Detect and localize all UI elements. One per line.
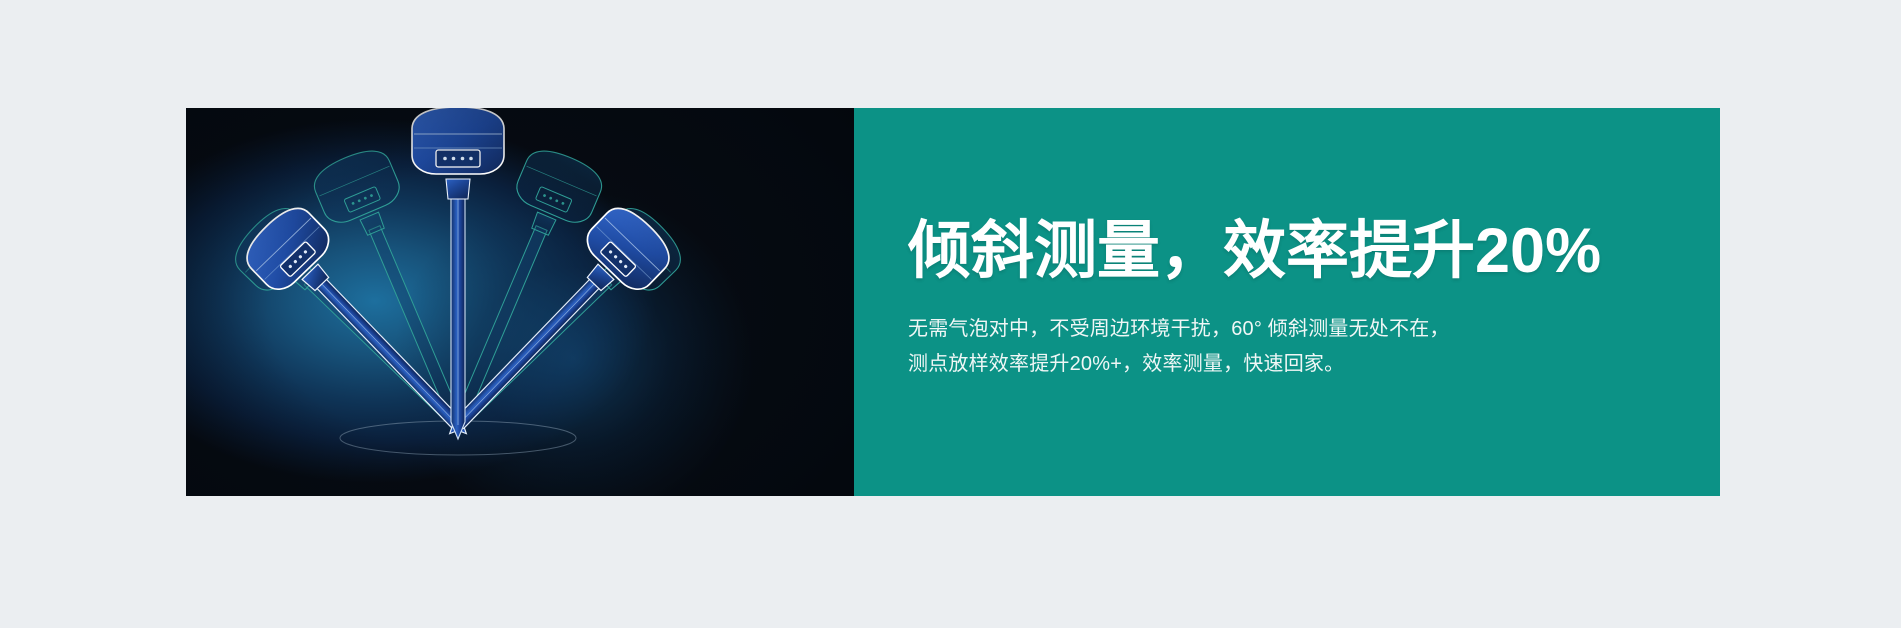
copy-panel: 倾斜测量，效率提升20% 无需气泡对中，不受周边环境干扰，60° 倾斜测量无处不… xyxy=(854,108,1720,496)
headline: 倾斜测量，效率提升20% xyxy=(908,218,1720,284)
product-illustration-panel xyxy=(186,108,854,496)
body-copy-line-1: 无需气泡对中，不受周边环境干扰，60° 倾斜测量无处不在， xyxy=(908,312,1720,347)
feature-banner: 倾斜测量，效率提升20% 无需气泡对中，不受周边环境干扰，60° 倾斜测量无处不… xyxy=(186,108,1720,496)
body-copy: 无需气泡对中，不受周边环境干扰，60° 倾斜测量无处不在， 测点放样效率提升20… xyxy=(908,312,1720,382)
gnss-tilt-survey-illustration xyxy=(186,108,854,496)
body-copy-line-2: 测点放样效率提升20%+，效率测量，快速回家。 xyxy=(908,347,1720,382)
